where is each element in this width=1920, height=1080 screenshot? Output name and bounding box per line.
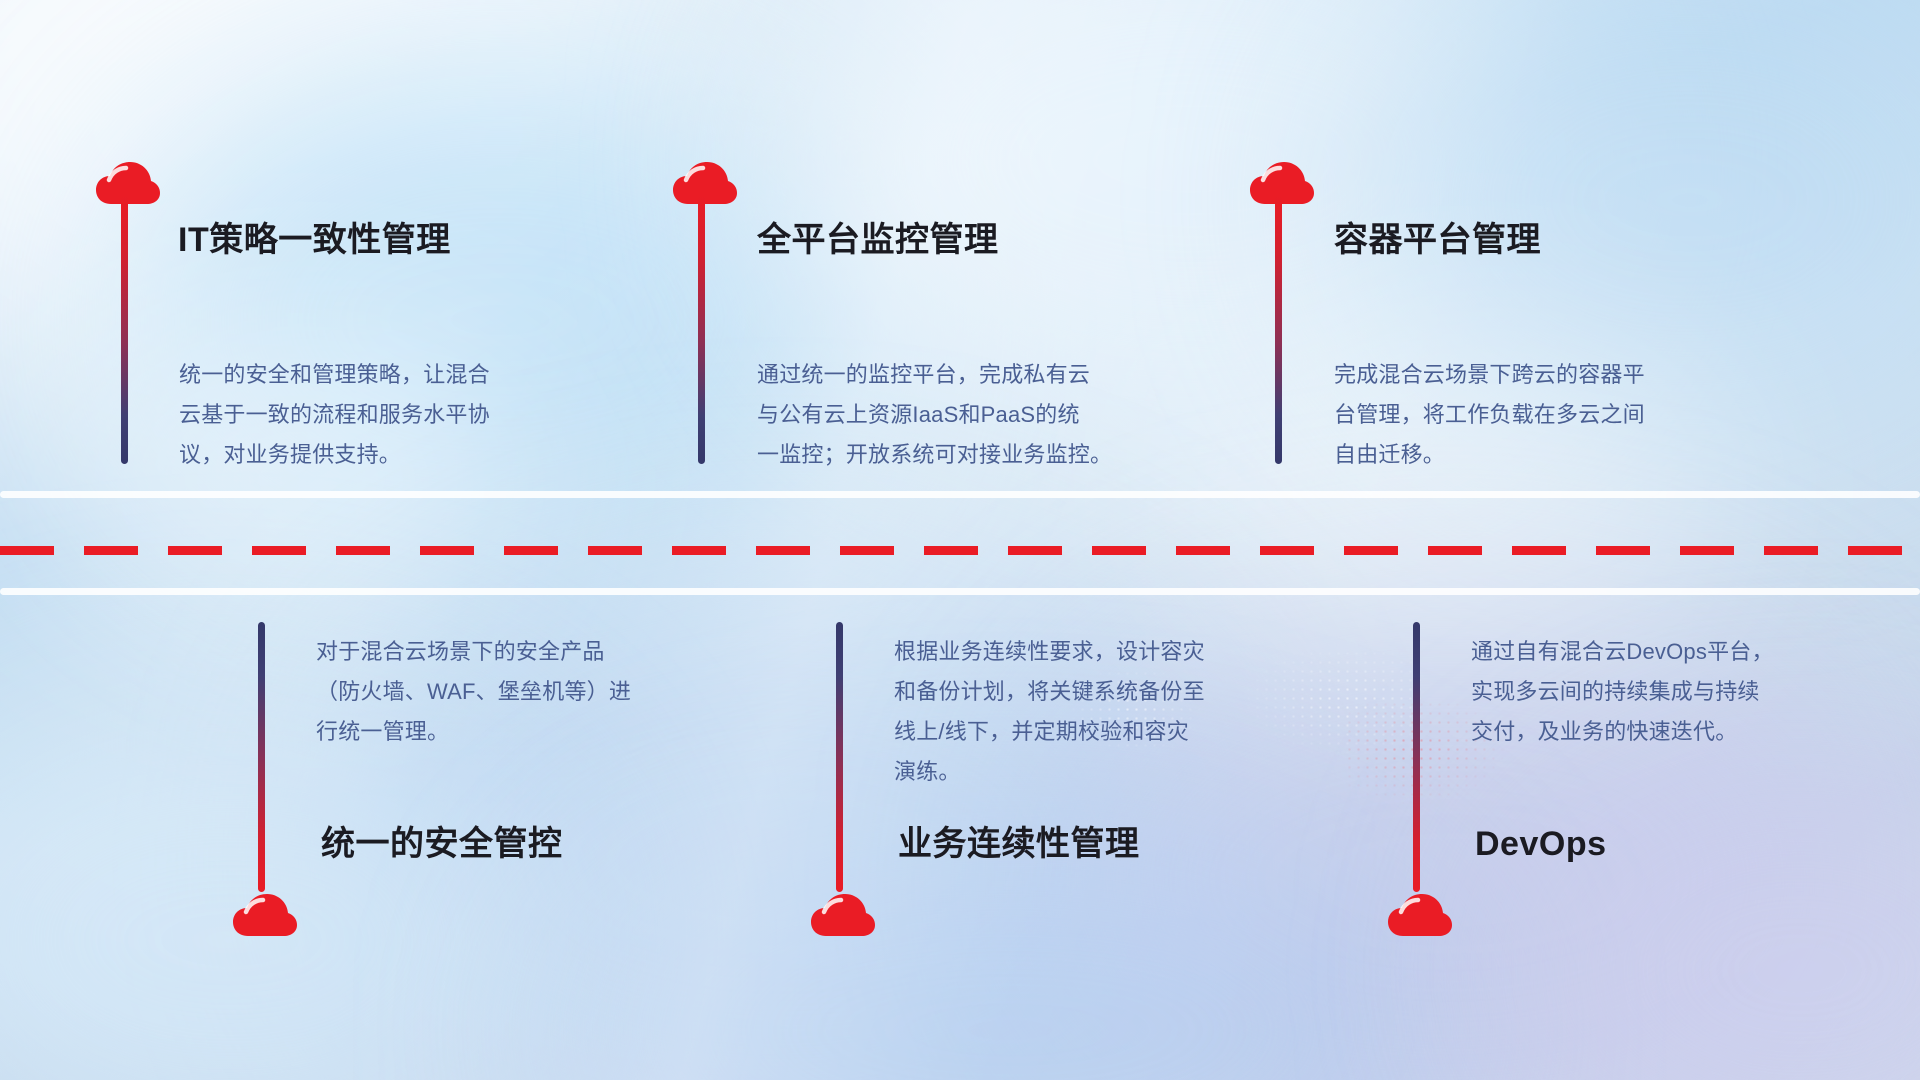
cloud-icon — [1387, 892, 1453, 940]
card-body: 根据业务连续性要求，设计容灾 和备份计划，将关键系统备份至 线上/线下，并定期校… — [894, 632, 1334, 792]
connector-stem — [1275, 196, 1282, 464]
cloud-icon — [672, 160, 738, 208]
card-heading: DevOps — [1475, 827, 1607, 861]
card-heading: 业务连续性管理 — [898, 827, 1140, 861]
connector-stem — [258, 622, 265, 892]
card-body: 通过自有混合云DevOps平台， 实现多云间的持续集成与持续 交付，及业务的快速… — [1471, 632, 1891, 752]
divider-rail-bottom — [0, 588, 1920, 595]
connector-stem — [121, 196, 128, 464]
card-heading: IT策略一致性管理 — [178, 223, 451, 257]
cloud-icon — [810, 892, 876, 940]
card-body: 完成混合云场景下跨云的容器平 台管理，将工作负载在多云之间 自由迁移。 — [1334, 355, 1764, 475]
card-heading: 容器平台管理 — [1334, 223, 1541, 257]
connector-stem — [836, 622, 843, 892]
card-body: 通过统一的监控平台，完成私有云 与公有云上资源IaaS和PaaS的统 一监控；开… — [757, 355, 1197, 475]
cloud-icon — [1249, 160, 1315, 208]
card-body: 对于混合云场景下的安全产品 （防火墙、WAF、堡垒机等）进 行统一管理。 — [316, 632, 746, 752]
cloud-icon — [95, 160, 161, 208]
connector-stem — [1413, 622, 1420, 892]
cloud-icon — [232, 892, 298, 940]
card-heading: 全平台监控管理 — [757, 223, 999, 257]
infographic-canvas: IT策略一致性管理 统一的安全和管理策略，让混合 云基于一致的流程和服务水平协 … — [0, 0, 1920, 1080]
card-heading: 统一的安全管控 — [321, 827, 563, 861]
divider-rail-top — [0, 491, 1920, 498]
card-body: 统一的安全和管理策略，让混合 云基于一致的流程和服务水平协 议，对业务提供支持。 — [179, 355, 609, 475]
dashed-divider — [0, 546, 1920, 555]
connector-stem — [698, 196, 705, 464]
